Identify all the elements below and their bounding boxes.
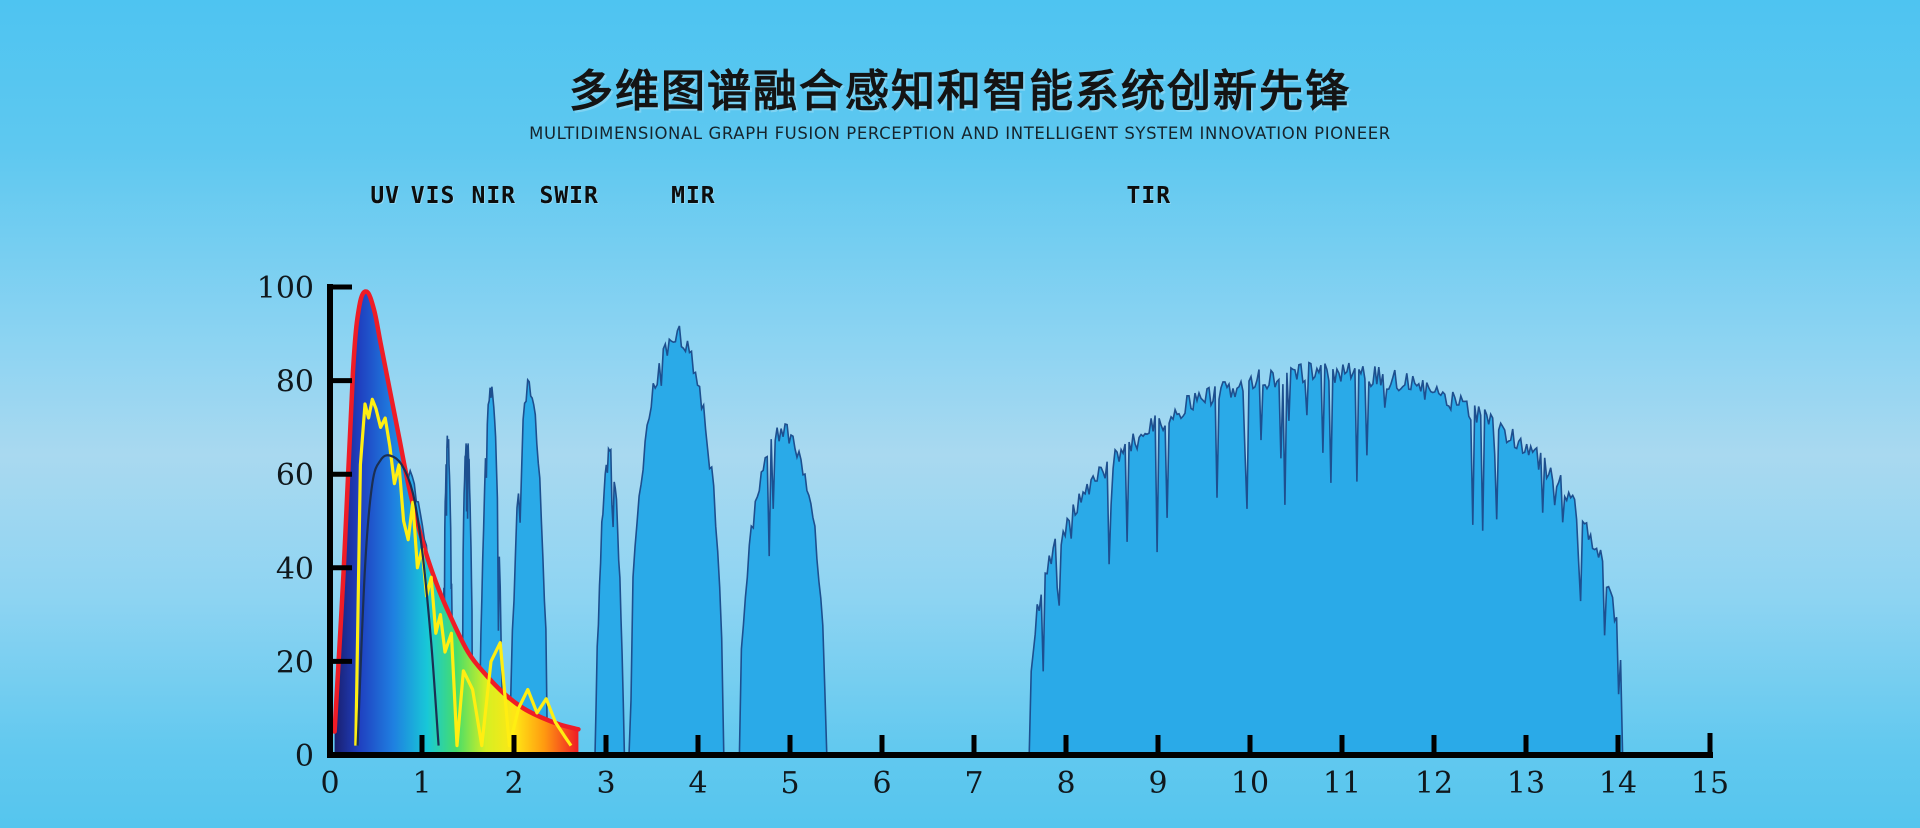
transmission-band-tir-window bbox=[1029, 363, 1622, 755]
transmission-band-swir-window-b bbox=[509, 380, 549, 755]
y-tick-label-60: 60 bbox=[276, 458, 314, 493]
y-tick-label-0: 0 bbox=[295, 739, 314, 774]
x-tick-label-4: 4 bbox=[688, 766, 707, 801]
x-tick-label-12: 12 bbox=[1415, 766, 1453, 801]
poster-canvas: 多维图谱融合感知和智能系统创新先锋 MULTIDIMENSIONAL GRAPH… bbox=[0, 0, 1920, 828]
y-tick-label-40: 40 bbox=[276, 552, 314, 587]
x-tick-label-7: 7 bbox=[964, 766, 983, 801]
transmission-band-mir-window-c bbox=[739, 424, 826, 755]
transmission-bands bbox=[358, 326, 1623, 755]
x-tick-label-6: 6 bbox=[872, 766, 891, 801]
transmission-band-mir-window-a bbox=[595, 449, 624, 755]
x-tick-label-9: 9 bbox=[1148, 766, 1167, 801]
x-tick-label-2: 2 bbox=[504, 766, 523, 801]
y-tick-label-20: 20 bbox=[276, 645, 314, 680]
x-tick-label-1: 1 bbox=[412, 766, 431, 801]
x-tick-label-13: 13 bbox=[1507, 766, 1545, 801]
transmission-band-mir-window-b bbox=[629, 326, 724, 755]
x-tick-label-11: 11 bbox=[1323, 766, 1361, 801]
x-tick-label-15: 15 bbox=[1691, 766, 1729, 801]
x-tick-label-8: 8 bbox=[1056, 766, 1075, 801]
y-tick-label-80: 80 bbox=[276, 365, 314, 400]
x-tick-label-0: 0 bbox=[320, 766, 339, 801]
x-tick-label-10: 10 bbox=[1231, 766, 1269, 801]
x-tick-label-14: 14 bbox=[1599, 766, 1637, 801]
spectrum-chart: 0123456789101112131415020406080100 bbox=[0, 0, 1920, 828]
x-tick-label-3: 3 bbox=[596, 766, 615, 801]
y-tick-label-100: 100 bbox=[257, 271, 314, 306]
x-tick-label-5: 5 bbox=[780, 766, 799, 801]
